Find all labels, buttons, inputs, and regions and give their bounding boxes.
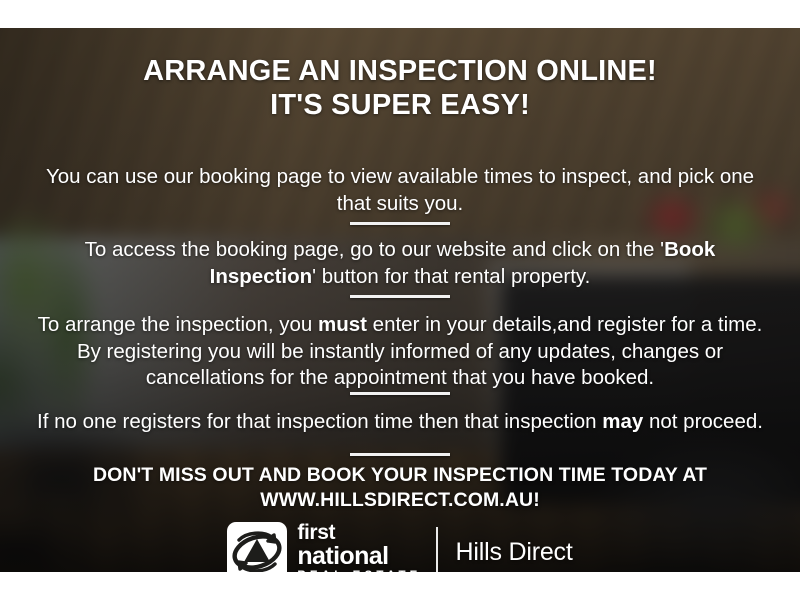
first-national-wordmark: first national REAL ESTATE bbox=[297, 522, 421, 572]
paragraph-access-booking: To access the booking page, go to our we… bbox=[34, 237, 766, 290]
headline-line-1: ARRANGE AN INSPECTION ONLINE! bbox=[143, 55, 657, 87]
paragraph-3-text-before: To arrange the inspection, you bbox=[38, 313, 318, 336]
must-emphasis: must bbox=[318, 313, 367, 336]
paragraph-1-text: You can use our booking page to view ava… bbox=[46, 165, 754, 215]
banner-image-area: ARRANGE AN INSPECTION ONLINE! IT'S SUPER… bbox=[0, 28, 800, 572]
paragraph-register-details: To arrange the inspection, you must ente… bbox=[34, 312, 766, 392]
paragraph-2-text-before: To access the booking page, go to our we… bbox=[85, 238, 664, 261]
logo-word-real-estate: REAL ESTATE bbox=[297, 571, 421, 572]
call-to-action: DON'T MISS OUT AND BOOK YOUR INSPECTION … bbox=[30, 463, 770, 513]
divider-rule-4 bbox=[350, 453, 450, 456]
paragraph-booking-page: You can use our booking page to view ava… bbox=[34, 164, 766, 217]
headline-line-2: IT'S SUPER EASY! bbox=[0, 88, 800, 122]
divider-rule-3 bbox=[350, 392, 450, 395]
paragraph-4-text-before: If no one registers for that inspection … bbox=[37, 410, 602, 433]
paragraph-no-registration: If no one registers for that inspection … bbox=[34, 409, 766, 436]
paragraph-2-text-after: ' button for that rental property. bbox=[312, 265, 590, 288]
divider-rule-1 bbox=[350, 222, 450, 225]
headline: ARRANGE AN INSPECTION ONLINE! IT'S SUPER… bbox=[0, 54, 800, 122]
cta-line-1: DON'T MISS OUT AND BOOK YOUR INSPECTION … bbox=[93, 464, 707, 486]
may-emphasis: may bbox=[602, 410, 643, 433]
first-national-logo-icon bbox=[227, 522, 287, 572]
logo-word-first: first bbox=[297, 522, 335, 543]
agency-name: Hills Direct bbox=[456, 538, 573, 567]
divider-rule-2 bbox=[350, 295, 450, 298]
poster-root: ARRANGE AN INSPECTION ONLINE! IT'S SUPER… bbox=[0, 0, 800, 600]
poster-content: ARRANGE AN INSPECTION ONLINE! IT'S SUPER… bbox=[0, 28, 800, 572]
logo-word-national: national bbox=[297, 544, 388, 569]
brand-logo-lockup: first national REAL ESTATE Hills Direct bbox=[0, 522, 800, 572]
cta-website-url[interactable]: WWW.HILLSDIRECT.COM.AU! bbox=[30, 488, 770, 513]
paragraph-4-text-after: not proceed. bbox=[643, 410, 763, 433]
logo-vertical-divider bbox=[436, 527, 438, 572]
